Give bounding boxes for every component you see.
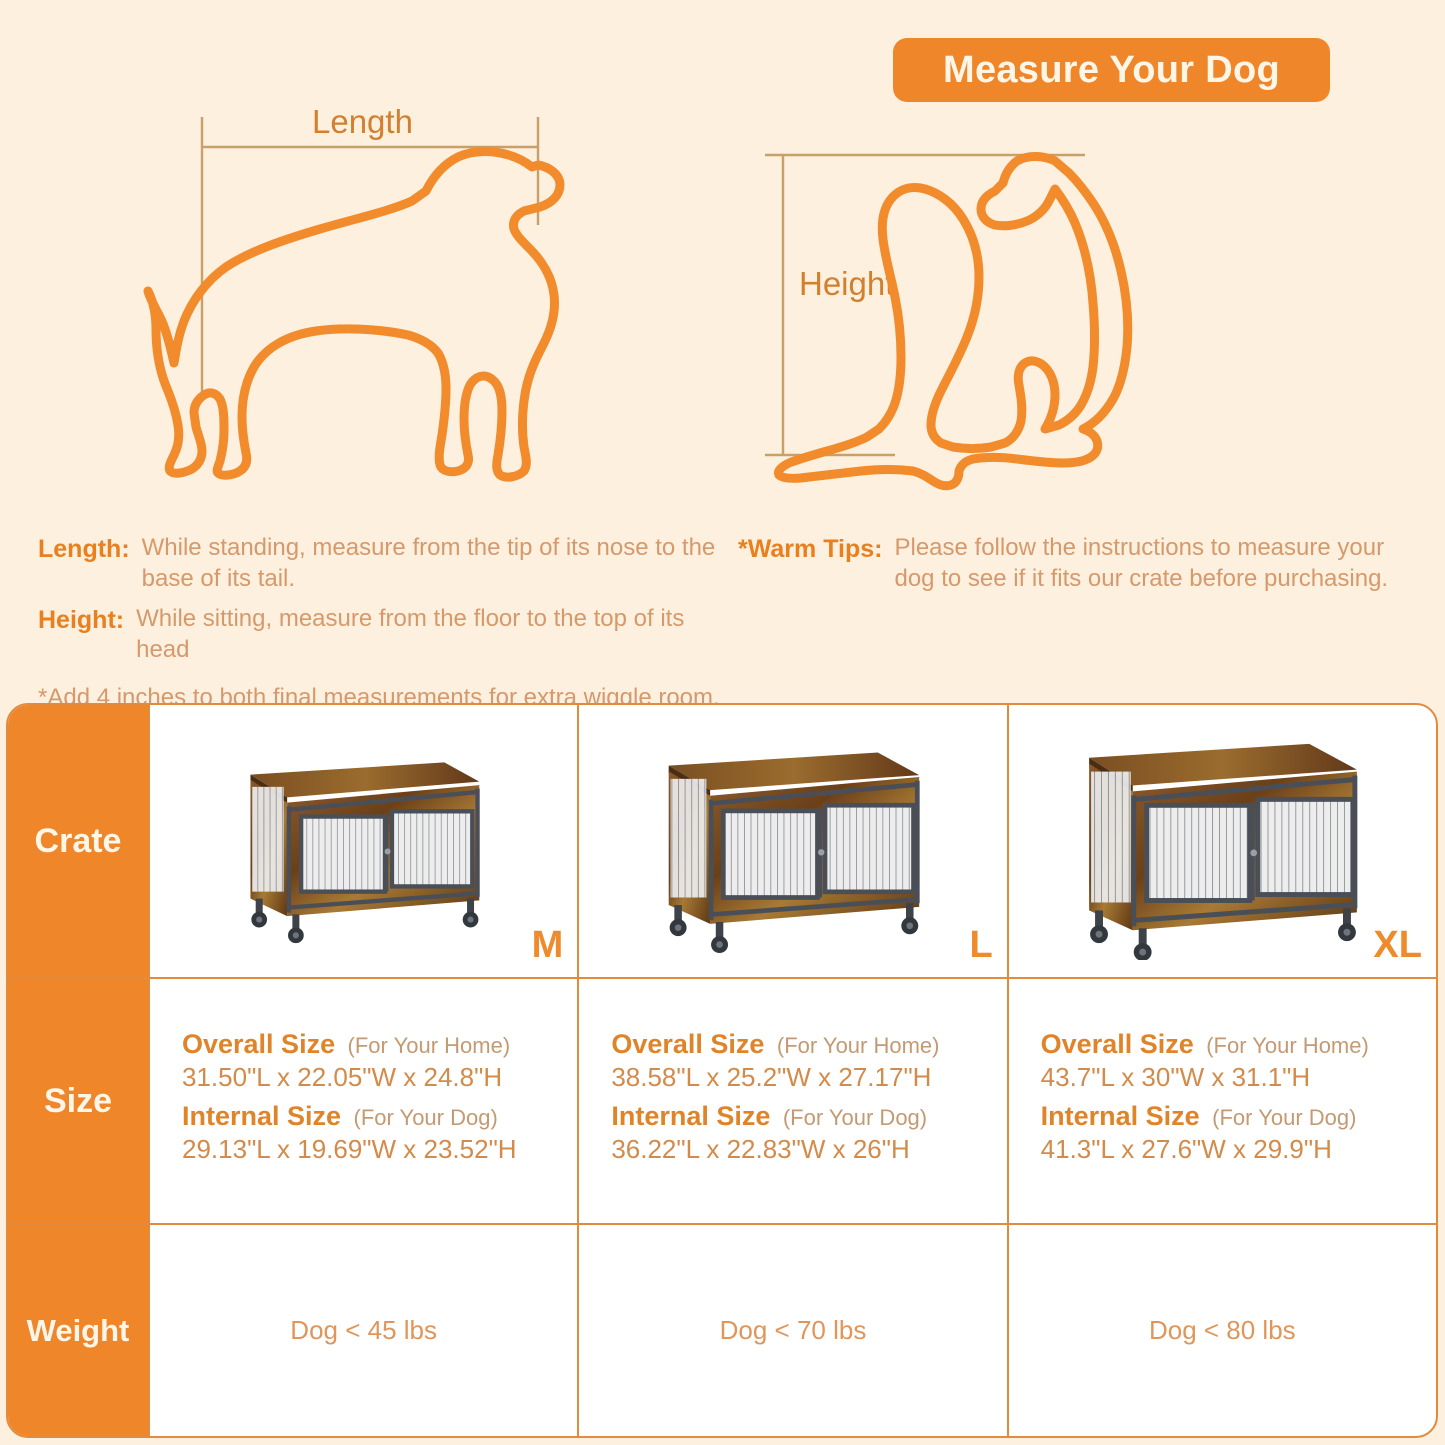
size-block-l: Overall Size (For Your Home) 38.58"L x 2…: [589, 1029, 996, 1173]
internal-size-heading-xl: Internal Size (For Your Dog): [1041, 1101, 1426, 1132]
crate-image-m-wrap: [160, 711, 567, 971]
height-instruction-text: While sitting, measure from the floor to…: [136, 604, 728, 665]
internal-size-dims-l: 36.22"L x 22.83"W x 26"H: [611, 1134, 996, 1165]
measurement-instructions: Length: While standing, measure from the…: [38, 533, 728, 713]
table-row-crate: Crate: [8, 705, 1436, 977]
weight-cell-xl: Dog < 80 lbs: [1007, 1225, 1436, 1436]
overall-size-sub-l: (For Your Home): [777, 1033, 940, 1058]
weight-value-m: Dog < 45 lbs: [290, 1315, 437, 1346]
overall-size-heading-l: Overall Size (For Your Home): [611, 1029, 996, 1060]
crate-cell-xl: XL: [1007, 705, 1436, 977]
length-label: Length: [312, 103, 413, 140]
overall-size-sub-xl: (For Your Home): [1206, 1033, 1369, 1058]
weight-cell-l: Dog < 70 lbs: [577, 1225, 1006, 1436]
weight-value-xl: Dog < 80 lbs: [1149, 1315, 1296, 1346]
overall-size-dims-m: 31.50"L x 22.05"W x 24.8"H: [182, 1062, 567, 1093]
crate-image-xl: [1066, 722, 1378, 960]
warm-tips-block: *Warm Tips: Please follow the instructio…: [738, 533, 1428, 604]
warm-tips-key: *Warm Tips:: [738, 533, 882, 565]
size-cell-l: Overall Size (For Your Home) 38.58"L x 2…: [577, 979, 1006, 1223]
crate-cell-l: L: [577, 705, 1006, 977]
height-instruction-row: Height: While sitting, measure from the …: [38, 604, 728, 665]
overall-size-title-l: Overall Size: [611, 1029, 764, 1059]
internal-size-title-xl: Internal Size: [1041, 1101, 1200, 1131]
size-cell-m: Overall Size (For Your Home) 31.50"L x 2…: [148, 979, 577, 1223]
overall-size-heading-xl: Overall Size (For Your Home): [1041, 1029, 1426, 1060]
size-block-xl: Overall Size (For Your Home) 43.7"L x 30…: [1019, 1029, 1426, 1173]
internal-size-dims-xl: 41.3"L x 27.6"W x 29.9"H: [1041, 1134, 1426, 1165]
overall-size-dims-xl: 43.7"L x 30"W x 31.1"H: [1041, 1062, 1426, 1093]
internal-size-sub-l: (For Your Dog): [783, 1105, 927, 1130]
warm-tips-text: Please follow the instructions to measur…: [894, 533, 1428, 594]
overall-size-heading-m: Overall Size (For Your Home): [182, 1029, 567, 1060]
standing-dog-outline-path: [148, 152, 560, 478]
size-cell-xl: Overall Size (For Your Home) 43.7"L x 30…: [1007, 979, 1436, 1223]
measure-your-dog-badge: Measure Your Dog: [893, 38, 1330, 102]
internal-size-heading-m: Internal Size (For Your Dog): [182, 1101, 567, 1132]
length-instruction-text: While standing, measure from the tip of …: [142, 533, 728, 594]
internal-size-dims-m: 29.13"L x 19.69"W x 23.52"H: [182, 1134, 567, 1165]
crate-image-l-wrap: [589, 711, 996, 971]
row-label-weight: Weight: [8, 1225, 148, 1436]
sitting-dog-outline-path: [778, 157, 1127, 486]
table-row-weight: Weight Dog < 45 lbs Dog < 70 lbs Dog < 8…: [8, 1223, 1436, 1436]
internal-size-title-l: Internal Size: [611, 1101, 770, 1131]
height-instruction-key: Height:: [38, 604, 124, 636]
crate-image-xl-wrap: [1019, 711, 1426, 971]
crate-image-l: [647, 728, 939, 954]
size-tag-l: L: [969, 924, 992, 967]
internal-size-title-m: Internal Size: [182, 1101, 341, 1131]
row-label-size: Size: [8, 979, 148, 1223]
size-tag-xl: XL: [1373, 924, 1422, 967]
badge-label: Measure Your Dog: [943, 49, 1280, 92]
crate-cell-m: M: [148, 705, 577, 977]
internal-size-sub-xl: (For Your Dog): [1212, 1105, 1356, 1130]
internal-size-heading-l: Internal Size (For Your Dog): [611, 1101, 996, 1132]
length-instruction-key: Length:: [38, 533, 130, 565]
weight-cell-m: Dog < 45 lbs: [148, 1225, 577, 1436]
size-block-m: Overall Size (For Your Home) 31.50"L x 2…: [160, 1029, 567, 1173]
height-guide-lines: [765, 155, 1085, 455]
size-comparison-table: Crate: [6, 703, 1438, 1438]
size-tag-m: M: [532, 924, 564, 967]
dog-illustrations-panel: Length Height: [0, 95, 1445, 515]
overall-size-title-m: Overall Size: [182, 1029, 335, 1059]
crate-image-m: [233, 735, 495, 947]
length-instruction-row: Length: While standing, measure from the…: [38, 533, 728, 594]
overall-size-dims-l: 38.58"L x 25.2"W x 27.17"H: [611, 1062, 996, 1093]
warm-tips-row: *Warm Tips: Please follow the instructio…: [738, 533, 1428, 594]
internal-size-sub-m: (For Your Dog): [354, 1105, 498, 1130]
sitting-dog-illustration: Height: [755, 135, 1235, 515]
table-row-size: Size Overall Size (For Your Home) 31.50"…: [8, 977, 1436, 1223]
row-label-crate: Crate: [8, 705, 148, 977]
weight-value-l: Dog < 70 lbs: [720, 1315, 867, 1346]
overall-size-title-xl: Overall Size: [1041, 1029, 1194, 1059]
overall-size-sub-m: (For Your Home): [348, 1033, 511, 1058]
height-label: Height: [799, 265, 894, 302]
standing-dog-illustration: Length: [140, 95, 620, 515]
